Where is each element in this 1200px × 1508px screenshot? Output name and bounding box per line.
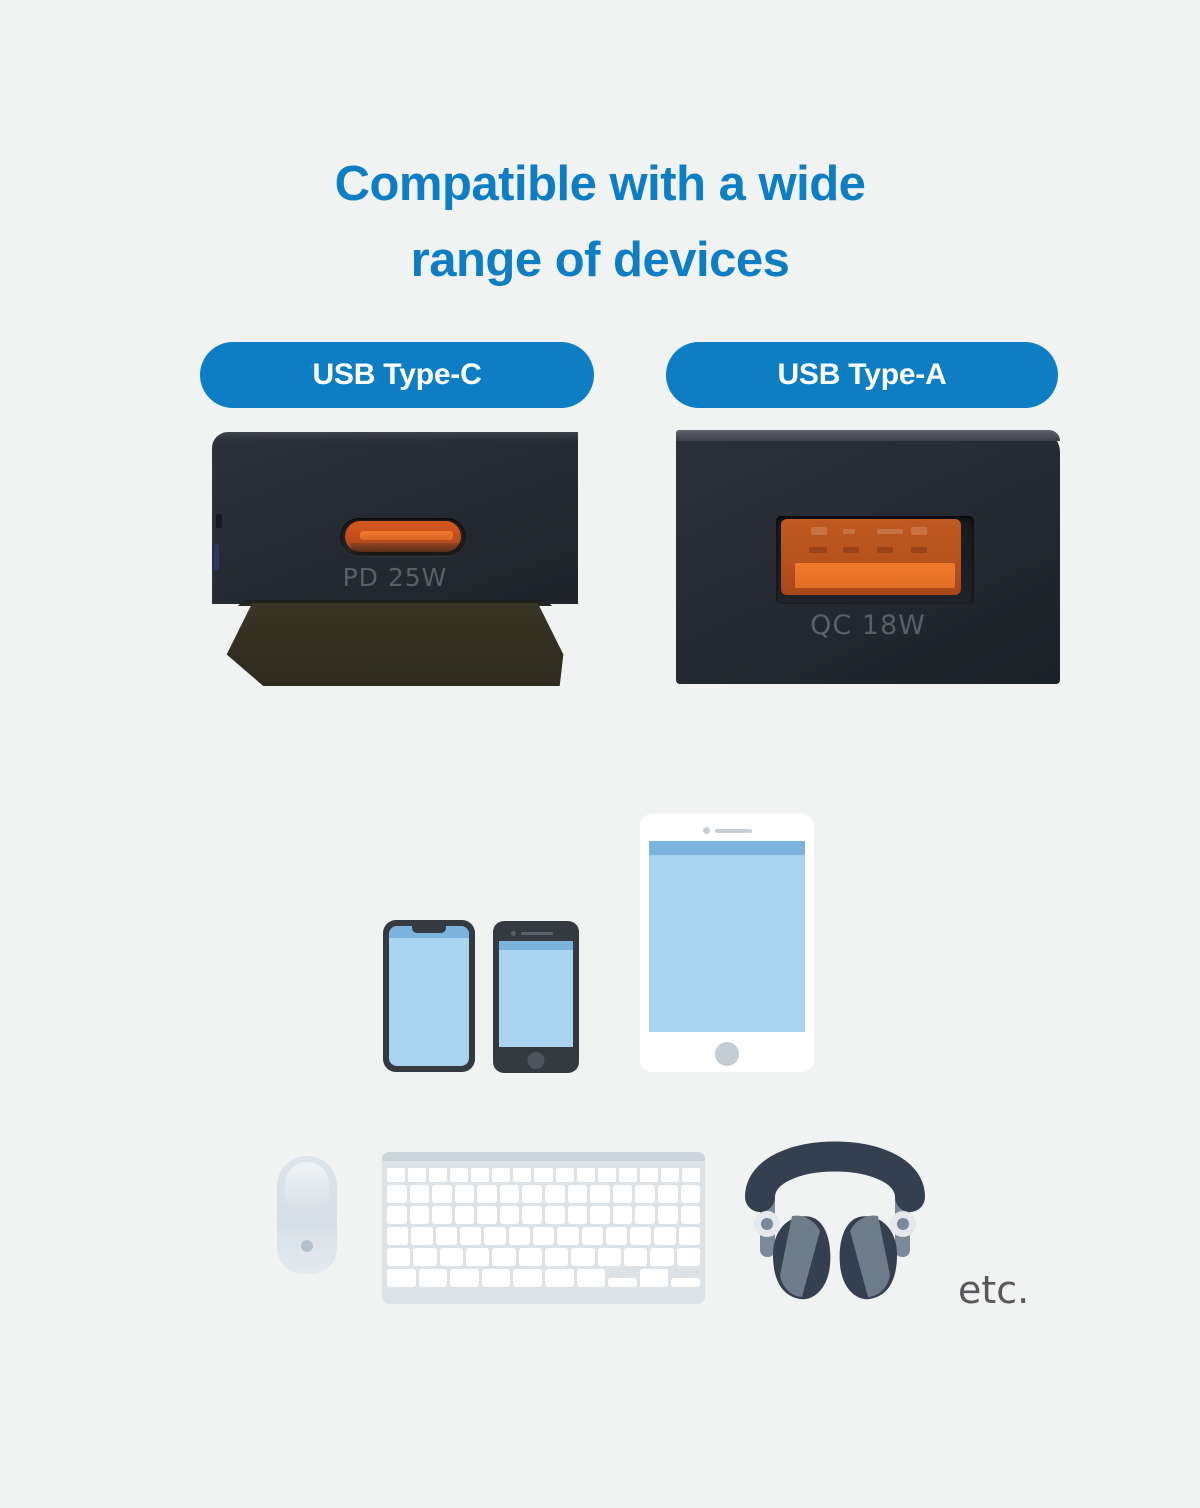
etc-label: etc. <box>958 1268 1029 1312</box>
tablet-camera <box>703 827 710 834</box>
headphones-icon <box>740 1125 930 1305</box>
tablet-speaker <box>715 829 752 833</box>
keyboard-row <box>387 1185 700 1203</box>
badge-usb-type-c-label: USB Type-C <box>312 358 481 392</box>
usb-a-contact <box>877 547 893 553</box>
keyboard-icon <box>382 1152 705 1304</box>
badge-usb-type-a-label: USB Type-A <box>777 358 946 392</box>
tablet-statusbar <box>649 841 805 855</box>
keyboard-row <box>387 1168 700 1182</box>
mouse-highlight <box>285 1162 329 1210</box>
usb-type-a-charger-photo: QC 18W <box>676 430 1060 684</box>
usb-a-pin <box>877 529 903 534</box>
usb-a-port-tongue <box>795 563 955 588</box>
usb-a-port-inner <box>781 519 961 595</box>
page-title: Compatible with a wide range of devices <box>0 146 1200 298</box>
usb-a-contact <box>843 547 859 553</box>
phone-notch-screen <box>389 926 469 1066</box>
page-title-line-1: Compatible with a wide <box>335 157 866 211</box>
keyboard-row <box>387 1206 700 1224</box>
charger-top-edge-a <box>676 430 1060 441</box>
usb-a-contact <box>911 547 927 553</box>
usb-a-contact <box>809 547 827 553</box>
phone-notch-cutout <box>412 926 446 933</box>
charger-side-notch <box>216 514 222 528</box>
usb-c-port-icon <box>340 518 466 556</box>
usb-a-port-icon <box>776 516 974 604</box>
usb-c-port-inner <box>345 521 461 552</box>
phone-notch-icon <box>383 920 475 1072</box>
tablet-home-button <box>715 1042 739 1066</box>
keyboard-row <box>387 1269 700 1287</box>
keyboard-top-edge <box>382 1152 705 1161</box>
keyboard-row <box>387 1248 700 1266</box>
phone-home-speaker <box>521 932 553 935</box>
page-title-line-2: range of devices <box>0 222 1200 298</box>
usb-a-pin <box>911 527 927 535</box>
tablet-icon <box>640 814 814 1072</box>
usb-c-port-tongue <box>360 531 453 540</box>
phone-home-statusbar <box>499 941 573 950</box>
usb-a-port-label: QC 18W <box>676 610 1060 641</box>
phone-home-icon <box>493 921 579 1073</box>
usb-a-pin <box>843 529 855 534</box>
charger-body-a: QC 18W <box>676 430 1060 684</box>
usb-c-port-shadow <box>350 543 466 555</box>
charger-body-c: PD 25W <box>212 432 578 604</box>
phone-home-camera <box>511 931 516 936</box>
badge-usb-type-a: USB Type-A <box>666 342 1058 408</box>
keyboard-row <box>387 1227 700 1245</box>
mouse-sensor-dot <box>301 1240 313 1252</box>
usb-c-port-label: PD 25W <box>212 563 578 592</box>
tablet-screen <box>649 841 805 1032</box>
phone-home-button <box>528 1052 545 1069</box>
mouse-icon <box>277 1156 337 1274</box>
usb-a-pin <box>811 527 827 535</box>
phone-home-screen <box>499 941 573 1047</box>
usb-type-c-charger-photo: PD 25W <box>212 430 578 686</box>
badge-usb-type-c: USB Type-C <box>200 342 594 408</box>
charger-taper-c <box>212 603 578 686</box>
